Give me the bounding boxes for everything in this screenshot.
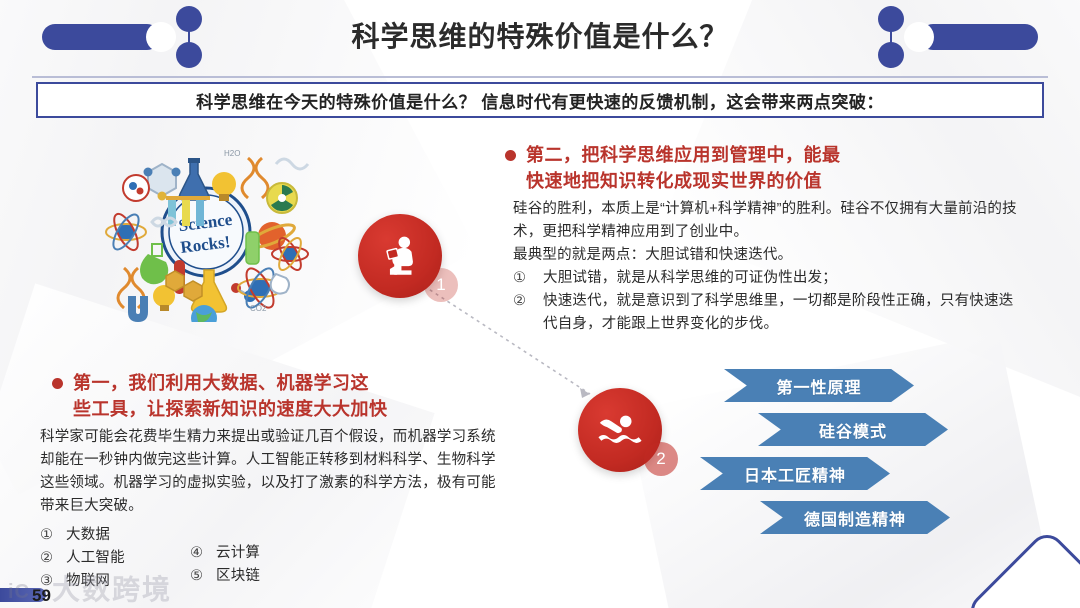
swimmer-icon bbox=[597, 407, 643, 453]
chevron-banner-japan-craftsman[interactable]: 日本工匠精神 bbox=[700, 457, 890, 490]
point-two-list: ① 大胆试错，就是从科学思维的可证伪性出发； ② 快速迭代，就是意识到了科学思维… bbox=[513, 267, 1018, 336]
subtitle-box: 科学思维在今天的特殊价值是什么？ 信息时代有更快速的反馈机制，这会带来两点突破： bbox=[36, 82, 1044, 118]
illustration-caption-h2o: H2O bbox=[224, 149, 240, 158]
list-item-marker: ① bbox=[513, 267, 543, 290]
dot-bar-right bbox=[878, 6, 904, 68]
dot-top-left bbox=[176, 6, 202, 32]
list-item-text: 快速迭代，就是意识到了科学思维里，一切都是阶段性正确，只有快速迭代自身，才能跟上… bbox=[543, 290, 1018, 336]
point-one-heading-line1: 第一，我们利用大数据、机器学习这 bbox=[73, 373, 369, 393]
pill-notch-left bbox=[146, 22, 176, 52]
point-one-paragraph-1: 科学家可能会花费毕生精力来提出或验证几百个假设，而机器学习系统却能在一秒钟内做完… bbox=[40, 426, 500, 518]
list-item: ⑤ 区块链 bbox=[190, 565, 340, 588]
person-reading-icon bbox=[377, 233, 423, 279]
watermark-logo: iC bbox=[8, 581, 30, 604]
list-item-text: 大胆试错，就是从科学思维的可证伪性出发； bbox=[543, 267, 1018, 290]
illustration-caption-co2: CO2 bbox=[250, 304, 267, 313]
list-item-marker: ⑤ bbox=[190, 565, 216, 588]
page-title: 科学思维的特殊价值是什么？ bbox=[240, 16, 840, 58]
list-item-marker: ② bbox=[513, 290, 543, 336]
page-number: 59 bbox=[32, 586, 51, 606]
point-two-paragraph-1: 硅谷的胜利，本质上是“计算机+科学精神”的胜利。硅谷不仅拥有大量前沿的技术，更把… bbox=[513, 198, 1018, 244]
chevron-banner-group: 第一性原理 硅谷模式 日本工匠精神 德国制造精神 bbox=[700, 365, 1020, 555]
dot-bottom-right bbox=[878, 42, 904, 68]
dot-top-right bbox=[878, 6, 904, 32]
badge-step-2[interactable]: 2 bbox=[578, 388, 662, 472]
list-item-text: 区块链 bbox=[216, 565, 260, 588]
point-one-body: 科学家可能会花费毕生精力来提出或验证几百个假设，而机器学习系统却能在一秒钟内做完… bbox=[40, 426, 500, 518]
list-item: ② 快速迭代，就是意识到了科学思维里，一切都是阶段性正确，只有快速迭代自身，才能… bbox=[513, 290, 1018, 336]
list-item: ② 人工智能 bbox=[40, 547, 190, 570]
bullet-dot-icon bbox=[52, 378, 63, 389]
dot-bottom-left bbox=[176, 42, 202, 68]
list-item-text: 大数据 bbox=[66, 524, 110, 547]
list-item: ④ 云计算 bbox=[190, 542, 340, 565]
pill-notch-right bbox=[904, 22, 934, 52]
bullet-dot-icon bbox=[505, 150, 516, 161]
point-two-heading-text: 第二，把科学思维应用到管理中，能最 快速地把知识转化成现实世界的价值 bbox=[526, 142, 841, 194]
chevron-banner-germany-manufacturing[interactable]: 德国制造精神 bbox=[760, 501, 950, 534]
point-one-list-right: ④ 云计算 ⑤ 区块链 bbox=[190, 524, 340, 593]
list-item: ① 大数据 bbox=[40, 524, 190, 547]
science-rocks-illustration: Science Rocks! bbox=[100, 136, 312, 322]
point-two-heading: 第二，把科学思维应用到管理中，能最 快速地把知识转化成现实世界的价值 bbox=[505, 142, 975, 194]
pill-shape-left bbox=[42, 24, 160, 50]
badge-step-1[interactable]: 1 bbox=[358, 214, 442, 298]
slide-header: 科学思维的特殊价值是什么？ bbox=[0, 0, 1080, 74]
chevron-banner-first-principles[interactable]: 第一性原理 bbox=[724, 369, 914, 402]
point-one-heading-text: 第一，我们利用大数据、机器学习这 些工具，让探索新知识的速度大大加快 bbox=[73, 370, 388, 422]
pill-shape-right bbox=[920, 24, 1038, 50]
watermark-text: 大数跨境 bbox=[52, 568, 172, 608]
list-item-marker: ② bbox=[40, 547, 66, 570]
list-item-text: 人工智能 bbox=[66, 547, 125, 570]
header-divider bbox=[32, 76, 1048, 78]
point-two-body: 硅谷的胜利，本质上是“计算机+科学精神”的胜利。硅谷不仅拥有大量前沿的技术，更把… bbox=[513, 198, 1018, 336]
badge-number-1: 1 bbox=[424, 268, 458, 302]
list-item-marker: ④ bbox=[190, 542, 216, 565]
list-item: ① 大胆试错，就是从科学思维的可证伪性出发； bbox=[513, 267, 1018, 290]
point-two-heading-line1: 第二，把科学思维应用到管理中，能最 bbox=[526, 145, 841, 165]
dot-bar-left bbox=[176, 6, 202, 68]
point-two-heading-line2: 快速地把知识转化成现实世界的价值 bbox=[526, 171, 822, 191]
header-decoration-right bbox=[856, 0, 1056, 74]
list-item-marker: ① bbox=[40, 524, 66, 547]
badge-number-2: 2 bbox=[644, 442, 678, 476]
point-one-heading: 第一，我们利用大数据、机器学习这 些工具，让探索新知识的速度大大加快 bbox=[52, 370, 492, 422]
point-one-heading-line2: 些工具，让探索新知识的速度大大加快 bbox=[73, 399, 388, 419]
header-decoration-left bbox=[24, 0, 224, 74]
list-item-text: 云计算 bbox=[216, 542, 260, 565]
subtitle-text: 科学思维在今天的特殊价值是什么？ 信息时代有更快速的反馈机制，这会带来两点突破： bbox=[196, 88, 884, 113]
point-two-paragraph-2: 最典型的就是两点：大胆试错和快速迭代。 bbox=[513, 244, 1018, 267]
chevron-banner-silicon-valley[interactable]: 硅谷模式 bbox=[758, 413, 948, 446]
